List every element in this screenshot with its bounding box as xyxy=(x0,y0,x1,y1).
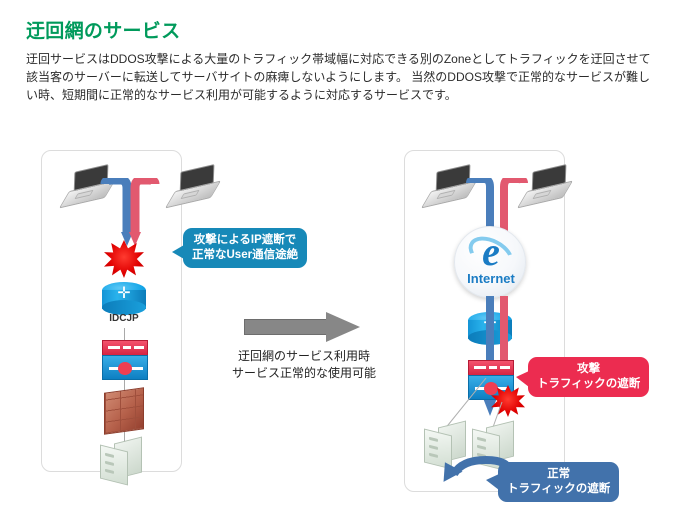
traffic-pipes-before xyxy=(95,178,165,256)
callout-line-2: 正常なUser通信途絶 xyxy=(192,248,298,263)
description-line-2: 該当客のサーバーに転送してサーバサイトの麻痺しないようにします。 当然のDDOS… xyxy=(26,68,656,86)
callout-normal-traffic: 正常 トラフィックの遮断 xyxy=(498,462,619,502)
transition-arrow-label: 迂回網のサービス利用時 サービス正常的な使用可能 xyxy=(226,348,382,382)
callout-line-1: 正常 xyxy=(507,467,610,482)
description-line-3: い時、短期間に正常的なサービス利用が可能するように対応するサービスです。 xyxy=(26,86,656,104)
server-icon xyxy=(100,440,144,486)
callout-line-1: 攻撃によるIP遮断で xyxy=(192,233,298,248)
internet-label: Internet xyxy=(455,271,527,286)
transition-label-line-1: 迂回網のサービス利用時 xyxy=(226,348,382,365)
page-title: 迂回網のサービス xyxy=(26,16,180,43)
transition-label-line-2: サービス正常的な使用可能 xyxy=(226,365,382,382)
internet-icon: e Internet xyxy=(454,226,526,298)
switch-icon xyxy=(102,340,148,380)
router-label: IDCJP xyxy=(92,313,156,324)
description-line-1: 迂回サービスはDDOS攻撃による大量のトラフィック帯域幅に対応できる別のZone… xyxy=(26,50,656,68)
description-paragraph: 迂回サービスはDDOS攻撃による大量のトラフィック帯域幅に対応できる別のZone… xyxy=(26,50,656,104)
laptop-icon xyxy=(168,168,222,208)
callout-attack-before: 攻撃によるIP遮断で 正常なUser通信途絶 xyxy=(183,228,307,268)
router-icon: ✛ xyxy=(102,282,146,316)
slide-page: 迂回網のサービス 迂回サービスはDDOS攻撃による大量のトラフィック帯域幅に対応… xyxy=(0,0,680,525)
callout-line-2: トラフィックの遮断 xyxy=(537,377,640,392)
callout-line-2: トラフィックの遮断 xyxy=(507,482,610,497)
firewall-icon xyxy=(104,387,144,435)
callout-attack-traffic: 攻撃 トラフィックの遮断 xyxy=(528,357,649,397)
transition-arrow xyxy=(244,312,362,342)
callout-line-1: 攻撃 xyxy=(537,362,640,377)
